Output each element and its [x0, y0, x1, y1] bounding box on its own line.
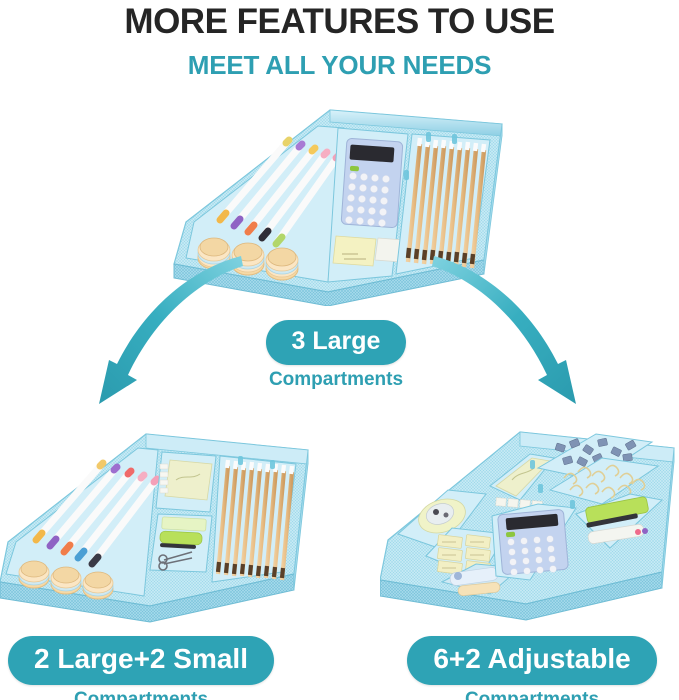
compartment-calculator — [328, 128, 408, 282]
callout-2-large-2-small: 2 Large+2 Small Compartments — [0, 636, 282, 700]
callout-3-large: 3 Large Compartments — [239, 320, 433, 391]
sticky-notes — [333, 236, 404, 266]
compartment-small-notepad — [156, 452, 216, 512]
compartment-markers-large — [6, 448, 158, 599]
compartment-small-tools — [150, 514, 212, 572]
calculator — [341, 138, 403, 228]
badge-6-plus-2-adjustable-sublabel: Compartments — [392, 689, 672, 700]
callout-6-plus-2-adjustable: 6+2 Adjustable Compartments — [392, 636, 672, 700]
badge-3-large: 3 Large — [266, 320, 407, 365]
infographic-canvas: MORE FEATURES TO USE MEET ALL YOUR NEEDS — [0, 0, 679, 700]
product-image-6-plus-2-adjustable — [380, 424, 679, 624]
badge-6-plus-2-adjustable: 6+2 Adjustable — [407, 636, 656, 685]
product-image-2-large-2-small — [0, 424, 318, 624]
calculator — [498, 509, 569, 575]
badge-2-large-2-small-sublabel: Compartments — [0, 689, 282, 700]
cell-calculator — [492, 504, 576, 580]
badge-3-large-sublabel: Compartments — [239, 369, 433, 391]
compartment-pencils-large — [212, 456, 296, 582]
product-image-3-large — [168, 96, 514, 306]
page-subtitle: MEET ALL YOUR NEEDS — [0, 50, 679, 81]
badge-2-large-2-small: 2 Large+2 Small — [8, 636, 274, 685]
page-title: MORE FEATURES TO USE — [0, 2, 679, 42]
